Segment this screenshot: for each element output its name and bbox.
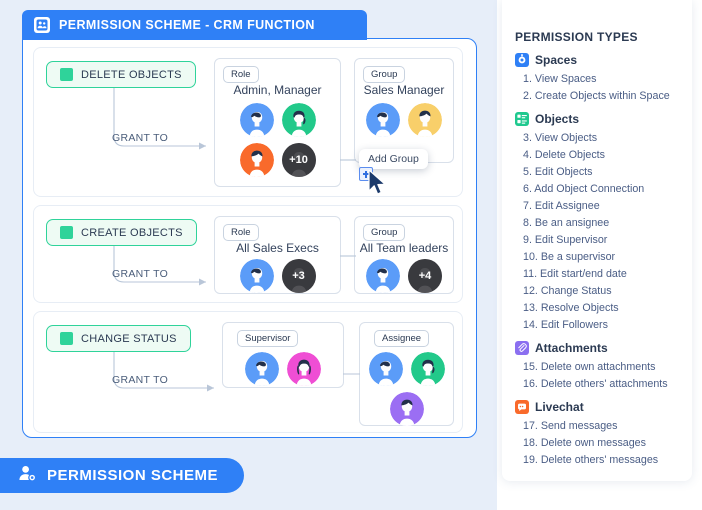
entity-tag: Role: [223, 224, 259, 241]
entity-tag: Role: [223, 66, 259, 83]
permission-item[interactable]: 14. Edit Followers: [515, 317, 684, 334]
avatar[interactable]: [408, 103, 442, 137]
permission-item[interactable]: 3. View Objects: [515, 130, 684, 147]
permission-types-heading: PERMISSION TYPES: [515, 30, 684, 44]
permission-item[interactable]: 10. Be a supervisor: [515, 249, 684, 266]
entity-tag: Group: [363, 66, 405, 83]
scheme-body: DELETE OBJECTS GRANT TO Role Admin, Mana…: [22, 38, 477, 438]
scheme-title: PERMISSION SCHEME - CRM FUNCTION: [59, 18, 315, 32]
status-square-icon: [60, 332, 73, 345]
entity-tag: Group: [363, 224, 405, 241]
permission-item[interactable]: 4. Delete Objects: [515, 147, 684, 164]
permission-group-livechat: Livechat: [515, 400, 684, 414]
avatar[interactable]: [390, 392, 424, 426]
avatar[interactable]: [366, 103, 400, 137]
permission-item[interactable]: 18. Delete own messages: [515, 435, 684, 452]
avatar[interactable]: [366, 259, 400, 293]
permission-item[interactable]: 12. Change Status: [515, 283, 684, 300]
user-settings-icon: [18, 464, 37, 488]
permission-item[interactable]: 11. Edit start/end date: [515, 266, 684, 283]
permission-item[interactable]: 8. Be an ansignee: [515, 215, 684, 232]
permission-group-title: Attachments: [535, 341, 608, 355]
entity-card-role[interactable]: Role All Sales Execs: [214, 216, 341, 294]
entity-card-role[interactable]: Role Admin, Manager: [214, 58, 341, 187]
entity-name: All Sales Execs: [215, 241, 340, 255]
avatar[interactable]: [245, 352, 279, 386]
add-group-tooltip: Add Group: [359, 149, 428, 169]
permission-scheme-pill[interactable]: PERMISSION SCHEME: [0, 458, 244, 493]
permission-item[interactable]: 7. Edit Assignee: [515, 198, 684, 215]
avatar-count-label: +4: [408, 270, 442, 282]
connector-line-between-cards: [343, 372, 360, 376]
scheme-titlebar: PERMISSION SCHEME - CRM FUNCTION: [22, 10, 367, 40]
entity-name: Sales Manager: [355, 83, 453, 97]
permission-row[interactable]: DELETE OBJECTS GRANT TO Role Admin, Mana…: [33, 47, 463, 197]
space-icon: [515, 53, 529, 67]
permission-badge-delete-objects[interactable]: DELETE OBJECTS: [46, 61, 196, 88]
connector-label: GRANT TO: [112, 374, 168, 386]
permission-scheme-window: PERMISSION SCHEME - CRM FUNCTION DELETE …: [22, 10, 477, 438]
permission-group-spaces: Spaces: [515, 53, 684, 67]
permission-item[interactable]: 17. Send messages: [515, 418, 684, 435]
permission-item[interactable]: 5. Edit Objects: [515, 164, 684, 181]
permission-group-attachments: Attachments: [515, 341, 684, 355]
permission-row[interactable]: CREATE OBJECTS GRANT TO Role All Sales E…: [33, 205, 463, 303]
status-square-icon: [60, 68, 73, 81]
permission-item[interactable]: 6. Add Object Connection: [515, 181, 684, 198]
permission-badge-label: CREATE OBJECTS: [81, 227, 183, 239]
entity-card-group[interactable]: Group Sales Manager: [354, 58, 454, 163]
permission-group-title: Livechat: [535, 400, 584, 414]
permission-group-objects: Objects: [515, 112, 684, 126]
permission-item[interactable]: 1. View Spaces: [515, 71, 684, 88]
permission-badge-label: DELETE OBJECTS: [81, 69, 182, 81]
permission-item[interactable]: 13. Resolve Objects: [515, 300, 684, 317]
entity-name: Admin, Manager: [215, 83, 340, 97]
avatar[interactable]: [369, 352, 403, 386]
left-canvas: PERMISSION SCHEME - CRM FUNCTION DELETE …: [0, 0, 497, 510]
entity-tag: Supervisor: [237, 330, 298, 347]
avatar[interactable]: [411, 352, 445, 386]
entity-card-supervisor[interactable]: Supervisor: [222, 322, 344, 388]
chat-icon: [515, 400, 529, 414]
entity-card-group[interactable]: Group All Team leaders: [354, 216, 454, 294]
entity-name: All Team leaders: [355, 241, 453, 255]
entity-card-assignee[interactable]: Assignee: [359, 322, 454, 426]
connector-label: GRANT TO: [112, 268, 168, 280]
avatar-overflow-count[interactable]: +10: [282, 143, 316, 177]
permission-badge-change-status[interactable]: CHANGE STATUS: [46, 325, 191, 352]
permission-row[interactable]: CHANGE STATUS GRANT TO Supervisor: [33, 311, 463, 433]
avatar[interactable]: [240, 103, 274, 137]
connector-label: GRANT TO: [112, 132, 168, 144]
avatar[interactable]: [240, 143, 274, 177]
permission-group-title: Objects: [535, 112, 579, 126]
avatar[interactable]: [287, 352, 321, 386]
avatar[interactable]: [240, 259, 274, 293]
permission-item[interactable]: 9. Edit Supervisor: [515, 232, 684, 249]
avatar-count-label: +3: [282, 270, 316, 282]
permission-item[interactable]: 16. Delete others' attachments: [515, 376, 684, 393]
permission-item[interactable]: 19. Delete others' messages: [515, 452, 684, 469]
avatar[interactable]: [282, 103, 316, 137]
avatar-count-label: +10: [282, 154, 316, 166]
objects-icon: [515, 112, 529, 126]
permission-badge-create-objects[interactable]: CREATE OBJECTS: [46, 219, 197, 246]
permission-item[interactable]: 15. Delete own attachments: [515, 359, 684, 376]
right-panel: PERMISSION TYPES Spaces 1. View Spaces 2…: [497, 0, 702, 510]
connector-line: [46, 88, 216, 160]
permission-item[interactable]: 2. Create Objects within Space: [515, 88, 684, 105]
permission-group-title: Spaces: [535, 53, 577, 67]
permission-scheme-pill-label: PERMISSION SCHEME: [47, 467, 218, 484]
paperclip-icon: [515, 341, 529, 355]
mouse-pointer-icon: [368, 170, 390, 196]
permission-badge-label: CHANGE STATUS: [81, 333, 177, 345]
status-square-icon: [60, 226, 73, 239]
permission-types-card: PERMISSION TYPES Spaces 1. View Spaces 2…: [502, 0, 692, 481]
users-group-icon: [34, 17, 50, 33]
avatar-overflow-count[interactable]: +3: [282, 259, 316, 293]
entity-tag: Assignee: [374, 330, 429, 347]
avatar-overflow-count[interactable]: +4: [408, 259, 442, 293]
